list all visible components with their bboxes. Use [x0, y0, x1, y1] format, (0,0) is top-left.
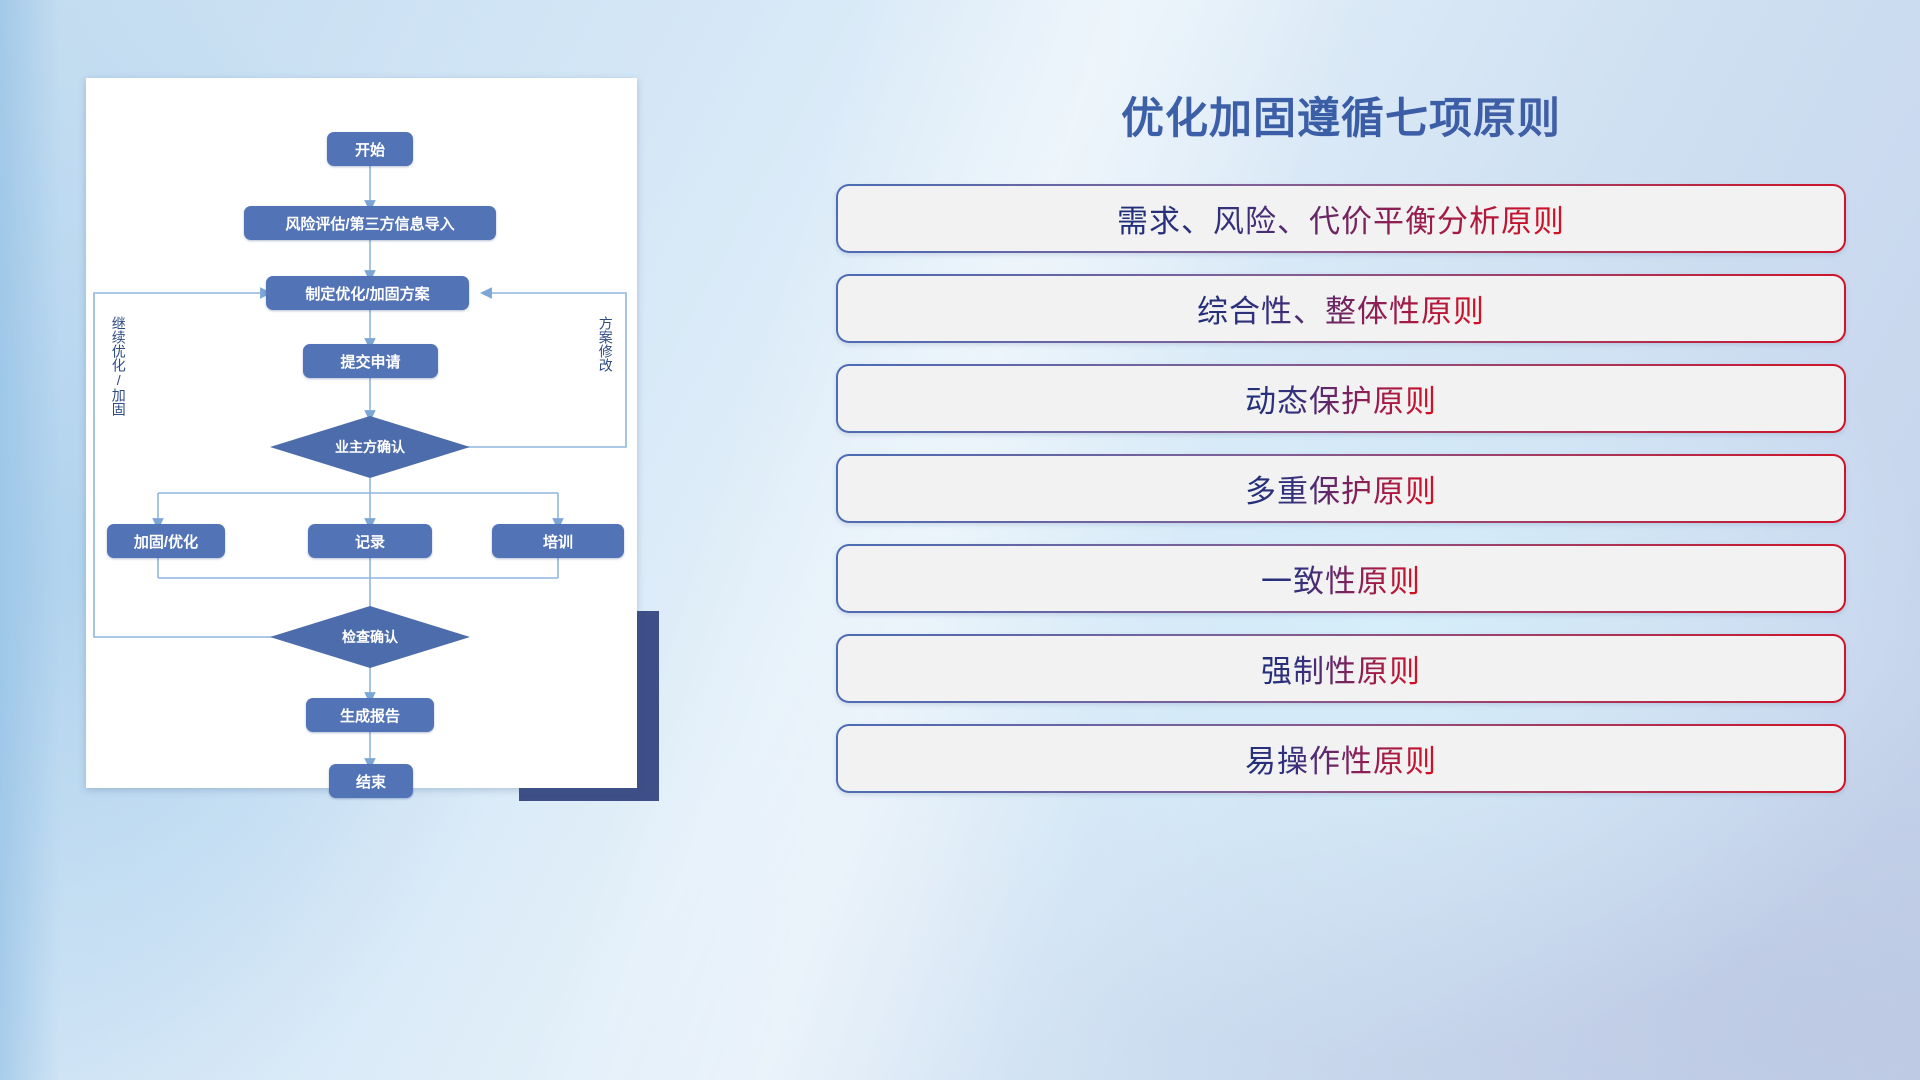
- flow-node-submit-label: 提交申请: [340, 351, 400, 372]
- principles-panel-title: 优化加固遵循七项原则: [836, 80, 1846, 146]
- flow-node-report-label: 生成报告: [340, 705, 400, 726]
- flow-node-risk-assessment[interactable]: 风险评估/第三方信息导入: [244, 206, 496, 240]
- principle-item-label: 一致性原则: [1261, 556, 1421, 601]
- principle-item[interactable]: 多重保护原则: [836, 454, 1846, 523]
- principle-item-inner: 综合性、整体性原则: [838, 276, 1844, 341]
- flow-node-plan[interactable]: 制定优化/加固方案: [266, 276, 469, 310]
- flow-node-risk-assessment-label: 风险评估/第三方信息导入: [285, 213, 454, 234]
- flow-node-start-label: 开始: [355, 139, 385, 160]
- principle-item-label: 强制性原则: [1261, 646, 1421, 691]
- principle-item[interactable]: 一致性原则: [836, 544, 1846, 613]
- flow-node-record[interactable]: 记录: [308, 524, 432, 558]
- principle-item-label: 多重保护原则: [1245, 466, 1437, 511]
- flow-node-report[interactable]: 生成报告: [306, 698, 434, 732]
- principle-item-inner: 强制性原则: [838, 636, 1844, 701]
- principle-item-inner: 易操作性原则: [838, 726, 1844, 791]
- flow-node-owner-confirm-label: 业主方确认: [335, 437, 405, 457]
- flow-node-record-label: 记录: [355, 531, 385, 552]
- flow-node-end-label: 结束: [356, 771, 386, 792]
- principle-item-label: 动态保护原则: [1245, 376, 1437, 421]
- principle-item-inner: 一致性原则: [838, 546, 1844, 611]
- principles-list: 需求、风险、代价平衡分析原则 综合性、整体性原则 动态保护原则 多重保护原则 一…: [836, 184, 1846, 793]
- principles-panel: 优化加固遵循七项原则 需求、风险、代价平衡分析原则 综合性、整体性原则 动态保护…: [836, 80, 1846, 840]
- flow-edge-label-left-loop: 继续优化/加固: [111, 316, 126, 446]
- principle-item-inner: 需求、风险、代价平衡分析原则: [838, 186, 1844, 251]
- principle-item-label: 易操作性原则: [1245, 736, 1437, 781]
- principle-item-label: 需求、风险、代价平衡分析原则: [1117, 196, 1565, 241]
- background-left-sheen: [0, 0, 60, 1080]
- flow-node-start[interactable]: 开始: [327, 132, 413, 166]
- flow-node-submit[interactable]: 提交申请: [303, 344, 438, 378]
- principle-item[interactable]: 动态保护原则: [836, 364, 1846, 433]
- flow-node-plan-label: 制定优化/加固方案: [305, 283, 429, 304]
- principle-item-label: 综合性、整体性原则: [1197, 286, 1485, 331]
- principle-item[interactable]: 需求、风险、代价平衡分析原则: [836, 184, 1846, 253]
- flow-node-training-label: 培训: [543, 531, 573, 552]
- flowchart-card: 开始 风险评估/第三方信息导入 制定优化/加固方案 提交申请 业主方确认 加固/…: [86, 78, 637, 788]
- flow-node-reinforce-label: 加固/优化: [134, 531, 198, 552]
- principle-item[interactable]: 易操作性原则: [836, 724, 1846, 793]
- principle-item-inner: 动态保护原则: [838, 366, 1844, 431]
- flow-edge-label-right-loop: 方案修改: [598, 316, 613, 416]
- flow-node-reinforce[interactable]: 加固/优化: [107, 524, 225, 558]
- flow-node-check-confirm-label: 检查确认: [342, 627, 398, 647]
- principle-item-inner: 多重保护原则: [838, 456, 1844, 521]
- principle-item[interactable]: 强制性原则: [836, 634, 1846, 703]
- flow-node-end[interactable]: 结束: [329, 764, 413, 798]
- flow-node-training[interactable]: 培训: [492, 524, 624, 558]
- principle-item[interactable]: 综合性、整体性原则: [836, 274, 1846, 343]
